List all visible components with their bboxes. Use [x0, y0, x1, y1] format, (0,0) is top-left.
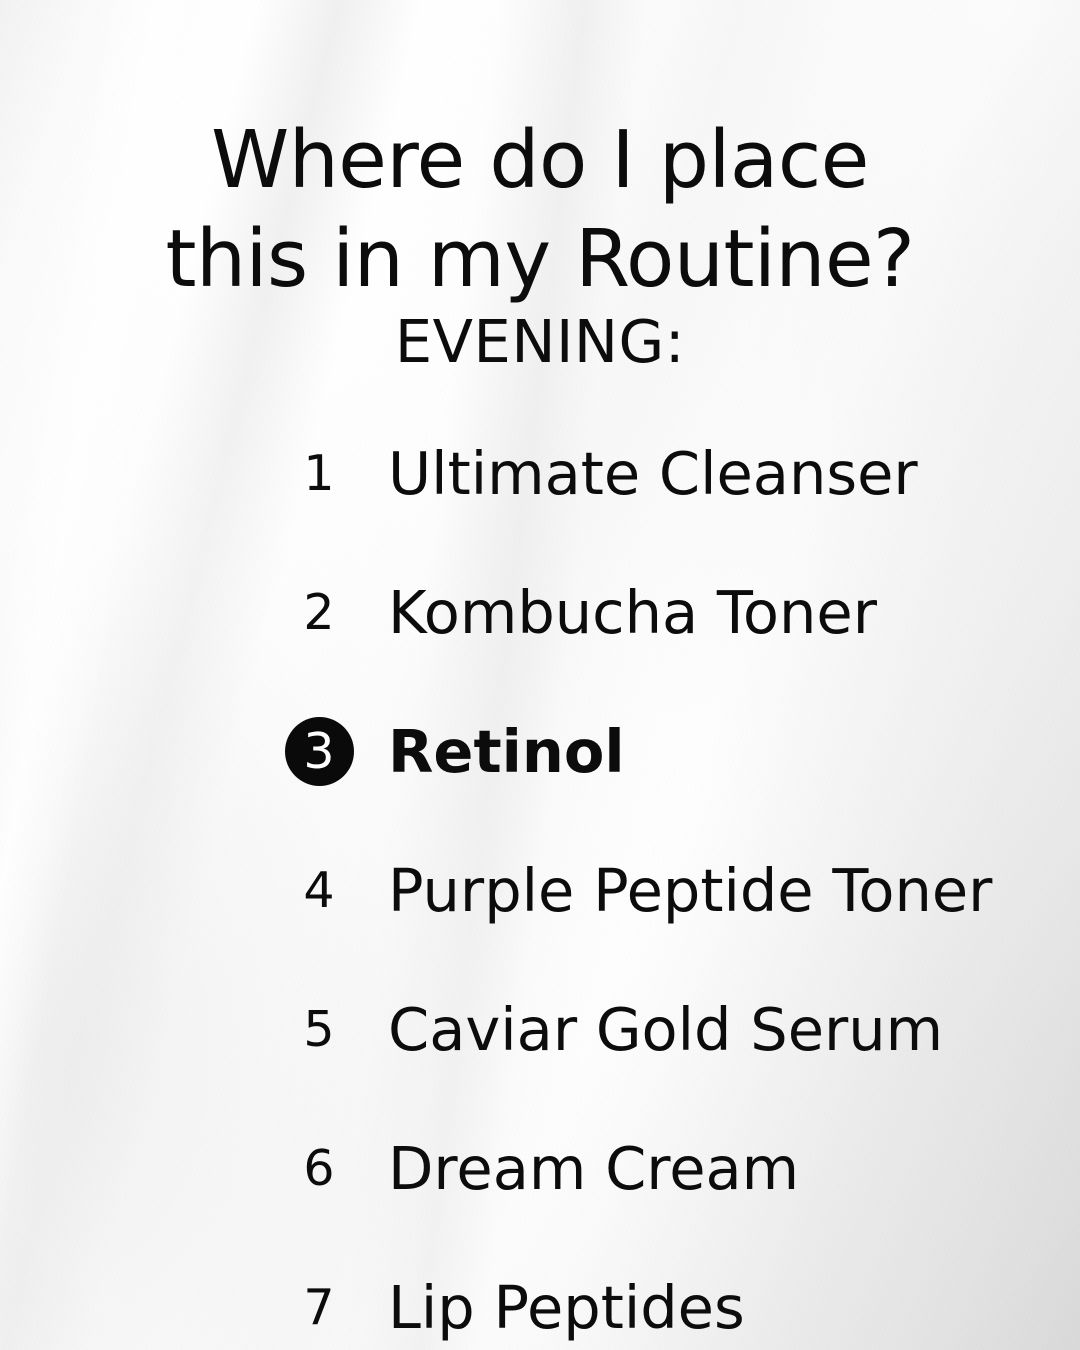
- list-item[interactable]: 4 Purple Peptide Toner: [0, 821, 1080, 960]
- step-label: Dream Cream: [388, 1139, 799, 1198]
- routine-step-list: 1 Ultimate Cleanser 2 Kombucha Toner 3 R…: [0, 404, 1080, 1350]
- list-item[interactable]: 5 Caviar Gold Serum: [0, 960, 1080, 1099]
- routine-graphic-canvas: Where do I place this in my Routine? EVE…: [0, 0, 1080, 1350]
- step-number: 7: [282, 1283, 356, 1332]
- step-number: 5: [282, 1005, 356, 1054]
- list-item[interactable]: 7 Lip Peptides: [0, 1238, 1080, 1350]
- step-label: Purple Peptide Toner: [388, 861, 992, 920]
- content-area: Where do I place this in my Routine? EVE…: [0, 0, 1080, 1350]
- step-label: Retinol: [388, 722, 625, 781]
- step-number: 4: [282, 866, 356, 915]
- page-title-line-2: this in my Routine?: [0, 210, 1080, 310]
- step-label: Lip Peptides: [388, 1278, 745, 1337]
- list-item-highlighted[interactable]: 3 Retinol: [0, 682, 1080, 821]
- step-label: Kombucha Toner: [388, 583, 877, 642]
- step-number: 2: [282, 588, 356, 637]
- badge-circle-icon: [285, 717, 354, 786]
- list-item[interactable]: 1 Ultimate Cleanser: [0, 404, 1080, 543]
- step-number: 6: [282, 1144, 356, 1193]
- section-heading-evening: EVENING:: [0, 312, 1080, 371]
- step-number: 1: [282, 449, 356, 498]
- step-label: Ultimate Cleanser: [388, 444, 918, 503]
- page-title: Where do I place this in my Routine?: [0, 111, 1080, 310]
- step-label: Caviar Gold Serum: [388, 1000, 943, 1059]
- list-item[interactable]: 2 Kombucha Toner: [0, 543, 1080, 682]
- step-number-badge: 3: [282, 727, 356, 776]
- page-title-line-1: Where do I place: [0, 111, 1080, 211]
- list-item[interactable]: 6 Dream Cream: [0, 1099, 1080, 1238]
